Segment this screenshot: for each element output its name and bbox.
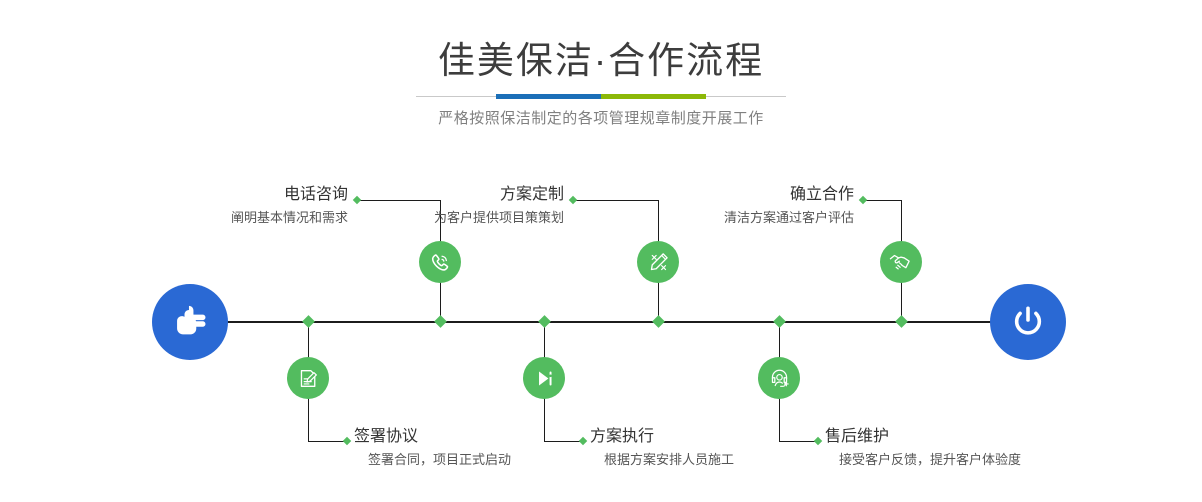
play-execute-icon bbox=[532, 366, 557, 391]
step-desc-1: 阐明基本情况和需求 bbox=[108, 208, 348, 227]
divider-green-segment bbox=[601, 94, 706, 99]
step-label-3: 方案定制 为客户提供项目策策划 bbox=[324, 185, 564, 227]
label-diamond-step-3 bbox=[569, 196, 577, 204]
page-title: 佳美保洁·合作流程 bbox=[0, 0, 1202, 79]
step-desc-6: 接受客户反馈，提升客户体验度 bbox=[839, 450, 1105, 469]
step-desc-5: 清洁方案通过客户评估 bbox=[614, 208, 854, 227]
step-node-1[interactable] bbox=[419, 241, 461, 283]
step-label-5: 确立合作 清洁方案通过客户评估 bbox=[614, 185, 854, 227]
label-diamond-step-2 bbox=[343, 437, 351, 445]
divider-blue-segment bbox=[496, 94, 601, 99]
step-title-5: 确立合作 bbox=[614, 185, 854, 205]
power-icon bbox=[1006, 300, 1050, 344]
headset-support-icon bbox=[767, 366, 792, 391]
title-divider bbox=[416, 96, 786, 97]
step-label-6: 售后维护 接受客户反馈，提升客户体验度 bbox=[825, 427, 1105, 469]
pencil-design-icon bbox=[646, 250, 671, 275]
step-node-4[interactable] bbox=[523, 357, 565, 399]
connector-horizontal-step-4 bbox=[544, 441, 582, 442]
step-node-5[interactable] bbox=[880, 241, 922, 283]
axis-diamond-step-5 bbox=[895, 315, 908, 328]
handshake-icon bbox=[888, 249, 914, 275]
connector-horizontal-step-2 bbox=[308, 441, 346, 442]
connector-horizontal-step-5 bbox=[866, 200, 902, 201]
axis-diamond-step-4 bbox=[538, 315, 551, 328]
pointing-hand-icon bbox=[168, 300, 212, 344]
label-diamond-step-5 bbox=[859, 196, 867, 204]
step-node-6[interactable] bbox=[758, 357, 800, 399]
axis-diamond-step-6 bbox=[773, 315, 786, 328]
connector-horizontal-step-6 bbox=[779, 441, 817, 442]
step-label-4: 方案执行 根据方案安排人员施工 bbox=[590, 427, 850, 469]
page-subtitle: 严格按照保洁制定的各项管理规章制度开展工作 bbox=[0, 107, 1202, 128]
timeline-start-node[interactable] bbox=[152, 284, 228, 360]
step-title-4: 方案执行 bbox=[590, 427, 850, 447]
step-node-3[interactable] bbox=[637, 241, 679, 283]
step-title-6: 售后维护 bbox=[825, 427, 1105, 447]
axis-diamond-step-3 bbox=[652, 315, 665, 328]
step-label-2: 签署协议 签署合同，项目正式启动 bbox=[354, 427, 614, 469]
step-desc-2: 签署合同，项目正式启动 bbox=[368, 450, 614, 469]
axis-diamond-step-2 bbox=[302, 315, 315, 328]
step-label-1: 电话咨询 阐明基本情况和需求 bbox=[108, 185, 348, 227]
step-title-1: 电话咨询 bbox=[108, 185, 348, 205]
sign-document-icon bbox=[296, 366, 321, 391]
axis-diamond-step-1 bbox=[434, 315, 447, 328]
timeline-end-node[interactable] bbox=[990, 284, 1066, 360]
step-title-3: 方案定制 bbox=[324, 185, 564, 205]
header: 佳美保洁·合作流程 严格按照保洁制定的各项管理规章制度开展工作 bbox=[0, 0, 1202, 79]
step-desc-4: 根据方案安排人员施工 bbox=[604, 450, 850, 469]
step-title-2: 签署协议 bbox=[354, 427, 614, 447]
step-node-2[interactable] bbox=[287, 357, 329, 399]
phone-call-icon bbox=[428, 250, 453, 275]
step-desc-3: 为客户提供项目策策划 bbox=[324, 208, 564, 227]
infographic-canvas: 佳美保洁·合作流程 严格按照保洁制定的各项管理规章制度开展工作 bbox=[0, 0, 1202, 502]
